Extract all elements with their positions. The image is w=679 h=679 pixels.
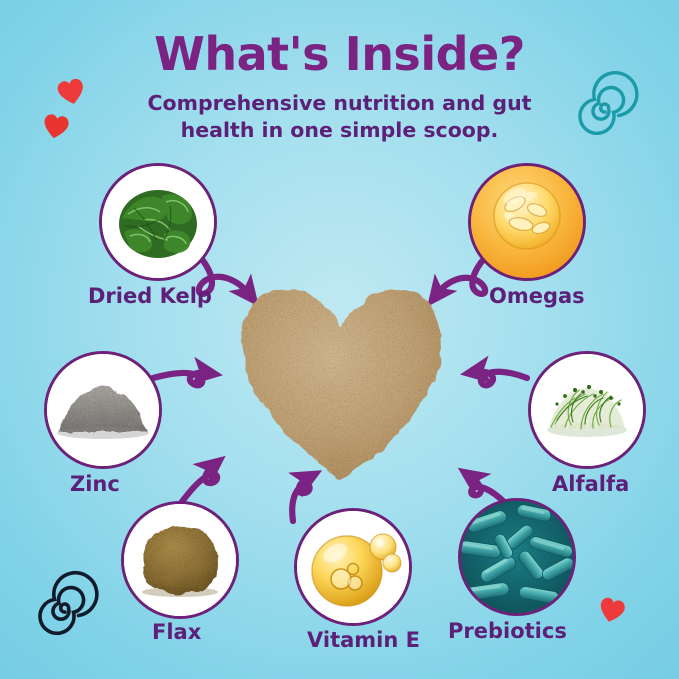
infographic-poster: What's Inside? Comprehensive nutrition a… [0,0,679,679]
omega-oil-icon [471,166,583,278]
ingredient-label-prebiotics: Prebiotics [448,619,567,643]
heart-icon [597,596,626,624]
arrow-vitamin-e-to-center [292,478,309,521]
flax-circle[interactable] [121,501,239,619]
vitamin-e-circle[interactable] [294,508,412,626]
ingredient-label-dried-kelp: Dried Kelp [88,284,212,308]
dried-kelp-circle[interactable] [99,163,217,281]
ingredient-label-alfalfa: Alfalfa [552,472,629,496]
omegas-circle[interactable] [468,163,586,281]
ingredient-label-flax: Flax [152,620,201,644]
heart-icon [42,113,70,140]
spiral-icon [40,573,97,634]
zinc-powder-icon [47,354,159,466]
arrow-zinc-to-center [153,373,207,386]
alfalfa-circle[interactable] [528,351,646,469]
prebiotics-circle[interactable] [458,498,576,616]
vitamin-e-oil-icon [297,511,409,623]
dried-kelp-icon [102,166,214,278]
ingredient-label-omegas: Omegas [489,284,585,308]
heart-icon [56,78,86,107]
page-title: What's Inside? [0,27,679,81]
spiral-icon [580,73,637,134]
heart-powder-image [236,268,448,483]
page-subtitle: Comprehensive nutrition and gut health i… [125,90,555,145]
zinc-circle[interactable] [44,351,162,469]
ingredient-label-vitamin-e: Vitamin E [307,628,420,652]
prebiotic-bacteria-icon [461,501,573,613]
arrow-alfalfa-to-center [476,372,527,386]
alfalfa-sprouts-icon [531,354,643,466]
ingredient-label-zinc: Zinc [70,472,120,496]
flax-seed-icon [124,504,236,616]
